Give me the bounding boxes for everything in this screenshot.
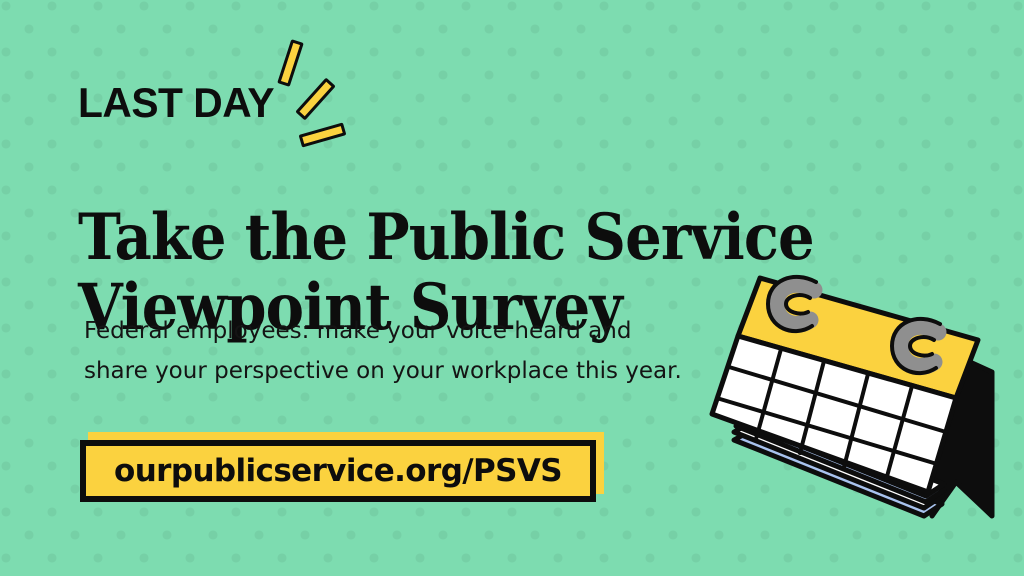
sparkle-dash-icon: [277, 39, 304, 87]
url-button-frame[interactable]: ourpublicservice.org/PSVS: [80, 440, 596, 502]
url-button-label: ourpublicservice.org/PSVS: [114, 453, 562, 489]
promo-poster: LAST DAY Take the Public Service Viewpoi…: [0, 0, 1024, 576]
sparkle-dash-icon: [295, 78, 335, 121]
headline-line-1: Take the Public Service: [78, 203, 726, 273]
subheading-line-1: Federal employees: make your voice heard…: [84, 312, 744, 352]
sparkle-dash-icon: [299, 122, 347, 147]
desk-calendar-illustration: [706, 254, 1024, 544]
eyebrow-last-day: LAST DAY: [78, 82, 274, 124]
subheading-line-2: share your perspective on your workplace…: [84, 352, 744, 392]
survey-url-button[interactable]: ourpublicservice.org/PSVS: [80, 440, 596, 502]
sparkle-cluster: [272, 36, 372, 141]
subheading-text: Federal employees: make your voice heard…: [84, 312, 744, 391]
